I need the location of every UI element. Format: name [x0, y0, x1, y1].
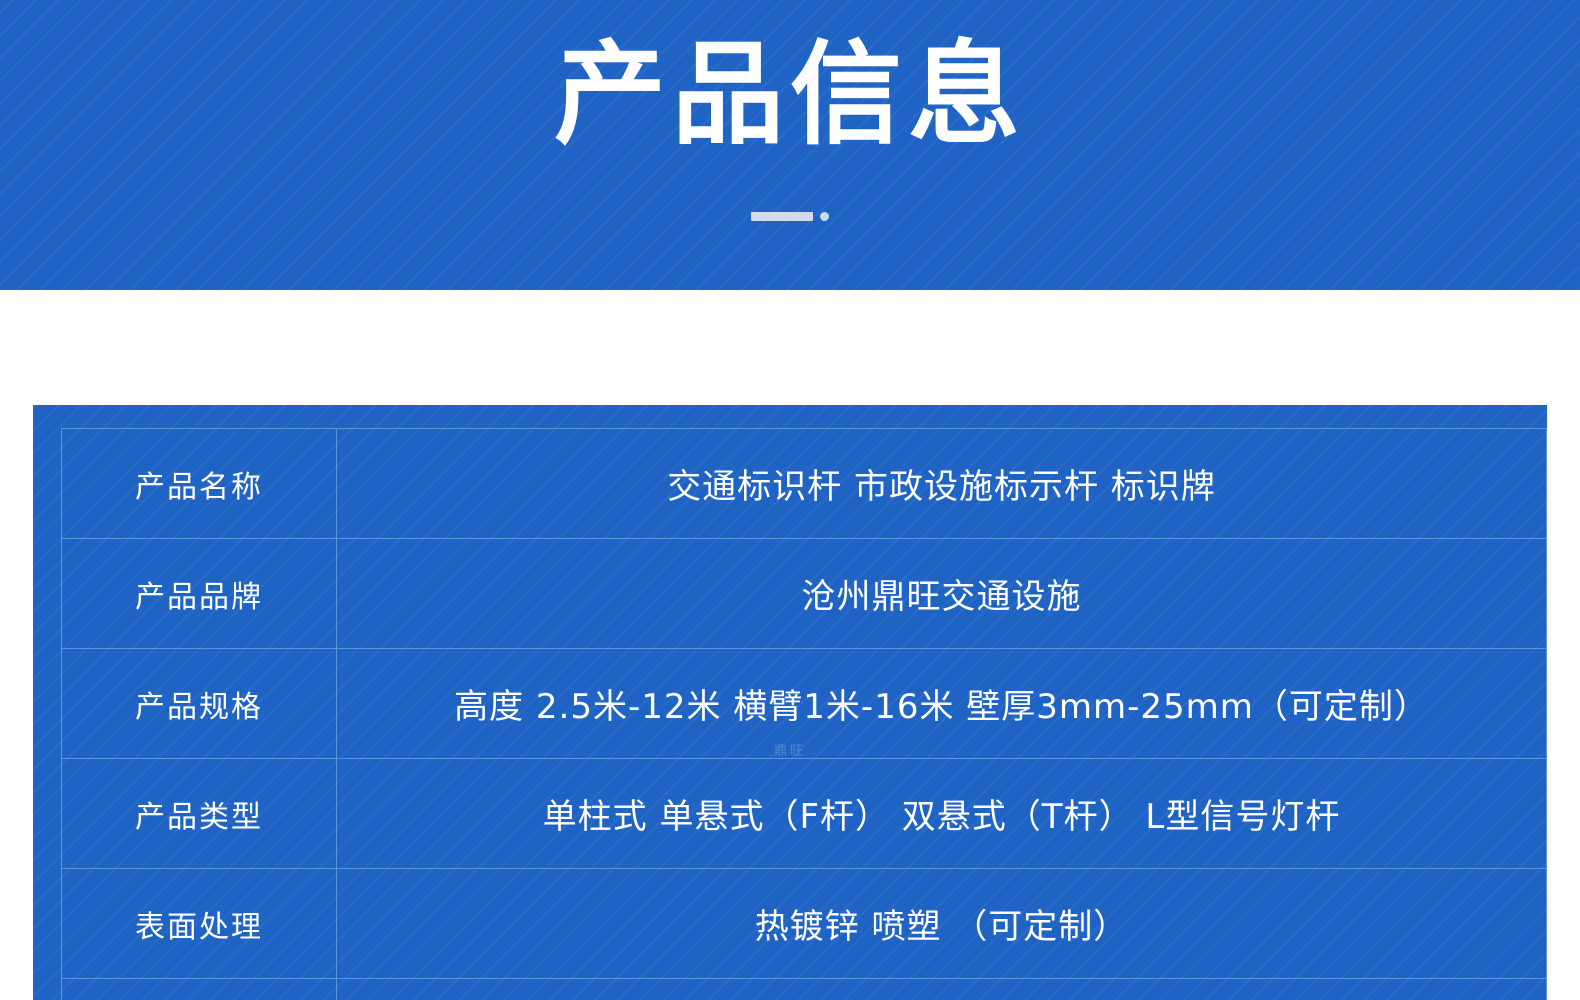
spec-value: 单柱式 单悬式（F杆） 双悬式（T杆） L型信号灯杆	[337, 759, 1547, 869]
spec-label	[62, 979, 337, 1000]
spec-label: 产品名称	[62, 429, 337, 539]
underline-dot	[820, 212, 829, 221]
table-row: 产品品牌 沧州鼎旺交通设施	[62, 539, 1547, 649]
product-spec-table: 产品名称 交通标识杆 市政设施标示杆 标识牌 产品品牌 沧州鼎旺交通设施 产品规…	[61, 428, 1547, 1000]
table-row: 产品名称 交通标识杆 市政设施标示杆 标识牌	[62, 429, 1547, 539]
title-underline-decoration	[751, 212, 829, 221]
spec-label: 产品类型	[62, 759, 337, 869]
table-row: 产品类型 单柱式 单悬式（F杆） 双悬式（T杆） L型信号灯杆	[62, 759, 1547, 869]
table-row: 表面处理 热镀锌 喷塑 （可定制）	[62, 869, 1547, 979]
spec-value: 高度 2.5米-12米 横臂1米-16米 壁厚3mm-25mm（可定制）	[337, 649, 1547, 759]
spec-value: 沧州鼎旺交通设施	[337, 539, 1547, 649]
table-row: 产品规格 高度 2.5米-12米 横臂1米-16米 壁厚3mm-25mm（可定制…	[62, 649, 1547, 759]
table-row	[62, 979, 1547, 1000]
spec-value	[337, 979, 1547, 1000]
underline-bar	[751, 212, 813, 221]
product-spec-panel: 产品名称 交通标识杆 市政设施标示杆 标识牌 产品品牌 沧州鼎旺交通设施 产品规…	[33, 405, 1547, 1000]
page-header-banner: 产品信息	[0, 0, 1580, 290]
page-title: 产品信息	[0, 34, 1580, 157]
spec-value: 交通标识杆 市政设施标示杆 标识牌	[337, 429, 1547, 539]
spec-label: 表面处理	[62, 869, 337, 979]
spec-label: 产品品牌	[62, 539, 337, 649]
spec-value: 热镀锌 喷塑 （可定制）	[337, 869, 1547, 979]
spec-label: 产品规格	[62, 649, 337, 759]
